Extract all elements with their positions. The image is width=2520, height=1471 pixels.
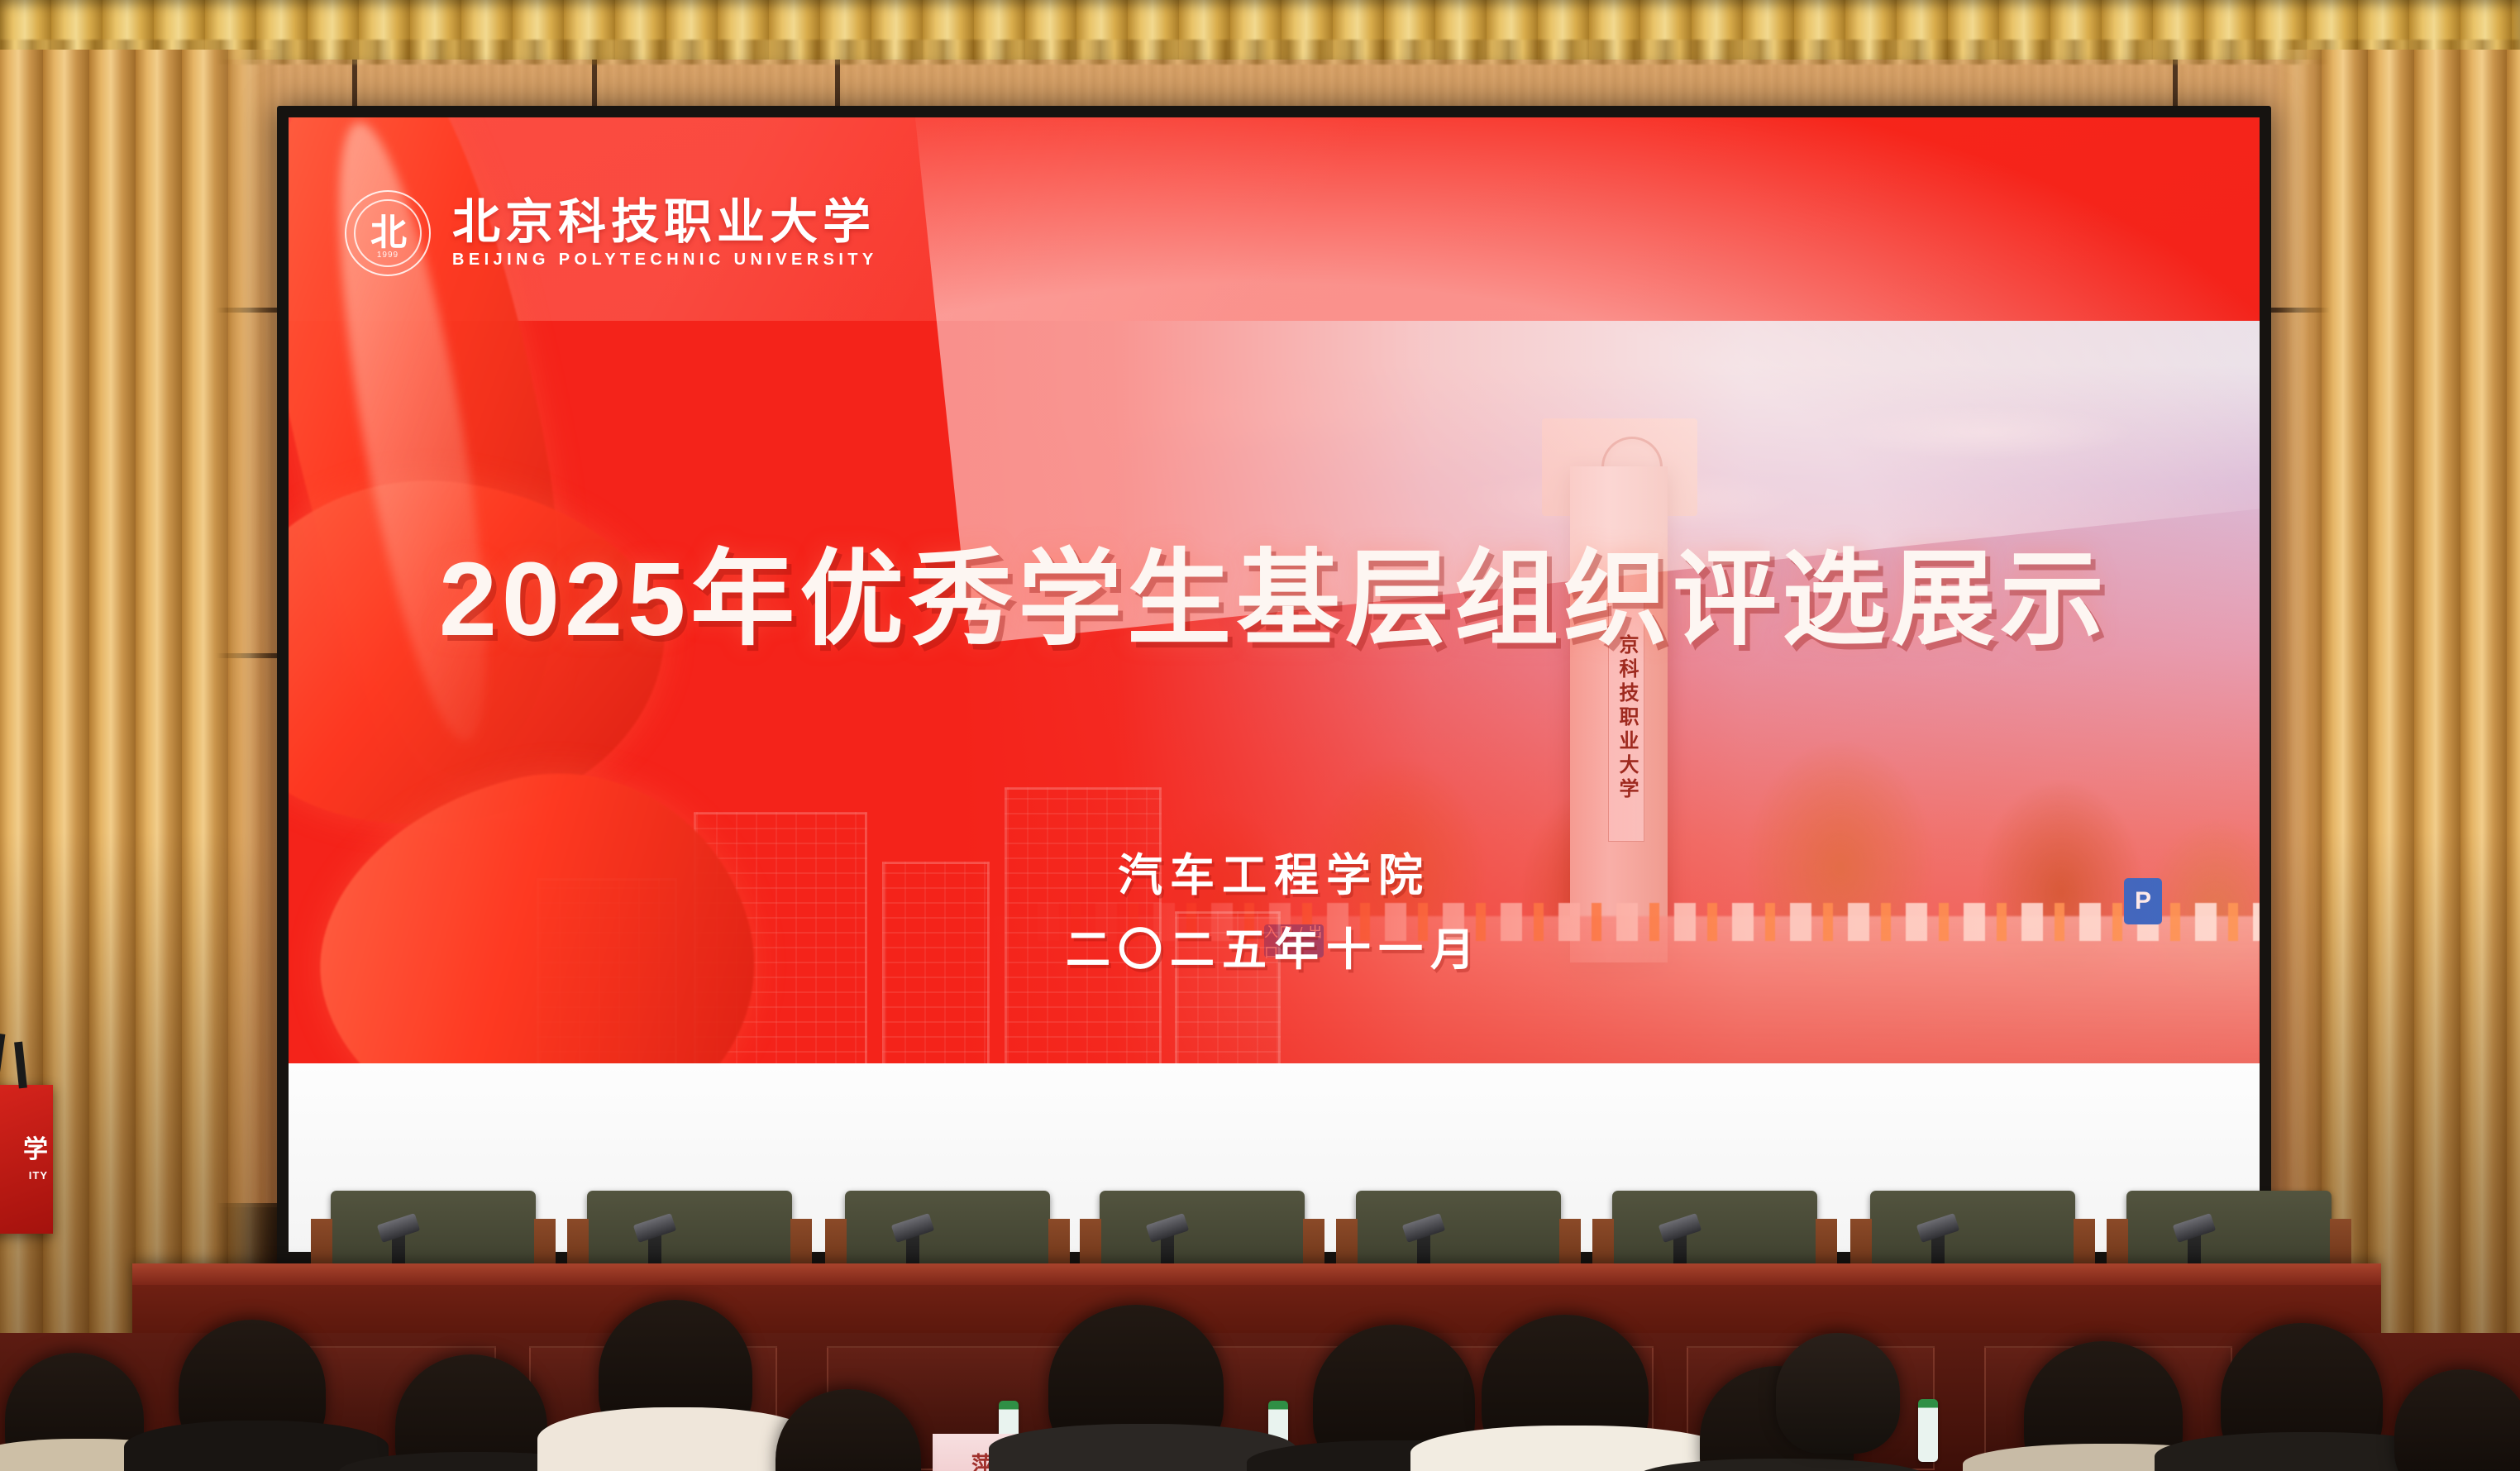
curtain-left	[0, 50, 278, 1471]
water-bottle	[1918, 1399, 1938, 1462]
university-logo-lockup: 北 1999 北京科技职业大学 BEIJING POLYTECHNIC UNIV…	[345, 190, 878, 276]
slide-title: 2025年优秀学生基层组织评选展示	[289, 547, 2260, 652]
stage-chair	[1870, 1191, 2075, 1270]
table-top-surface	[132, 1263, 2381, 1285]
led-screen: 京科技职业大学 入口 / 出口 P	[277, 106, 2271, 1263]
stage-chair	[1100, 1191, 1305, 1270]
university-name-cn: 北京科技职业大学	[452, 198, 878, 246]
slide-subtitle-department: 汽车工程学院	[289, 853, 2260, 898]
presentation-slide: 京科技职业大学 入口 / 出口 P	[289, 117, 2260, 1252]
auditorium-scene: 京科技职业大学 入口 / 出口 P	[0, 0, 2520, 1471]
university-seal-icon: 北 1999	[345, 190, 431, 276]
lectern-text-en: ITY	[29, 1169, 48, 1182]
lectern-text-cn: 学	[23, 1138, 48, 1163]
logo-text-block: 北京科技职业大学 BEIJING POLYTECHNIC UNIVERSITY	[452, 198, 878, 268]
audience-head	[1776, 1333, 1900, 1454]
stage-chair	[331, 1191, 536, 1270]
seal-glyph: 北	[370, 215, 405, 251]
stage-chair	[1356, 1191, 1561, 1270]
university-name-en: BEIJING POLYTECHNIC UNIVERSITY	[452, 251, 878, 268]
slide-subtitle-date: 二〇二五年十一月	[289, 928, 2260, 972]
valance-hem	[0, 40, 2520, 64]
stage-chair	[2126, 1191, 2331, 1270]
lectern-sign: 学 ITY	[0, 1085, 53, 1234]
stage-chair	[587, 1191, 792, 1270]
stage-chair	[1612, 1191, 1817, 1270]
stage-chair	[845, 1191, 1050, 1270]
ceiling-valance	[0, 0, 2520, 60]
